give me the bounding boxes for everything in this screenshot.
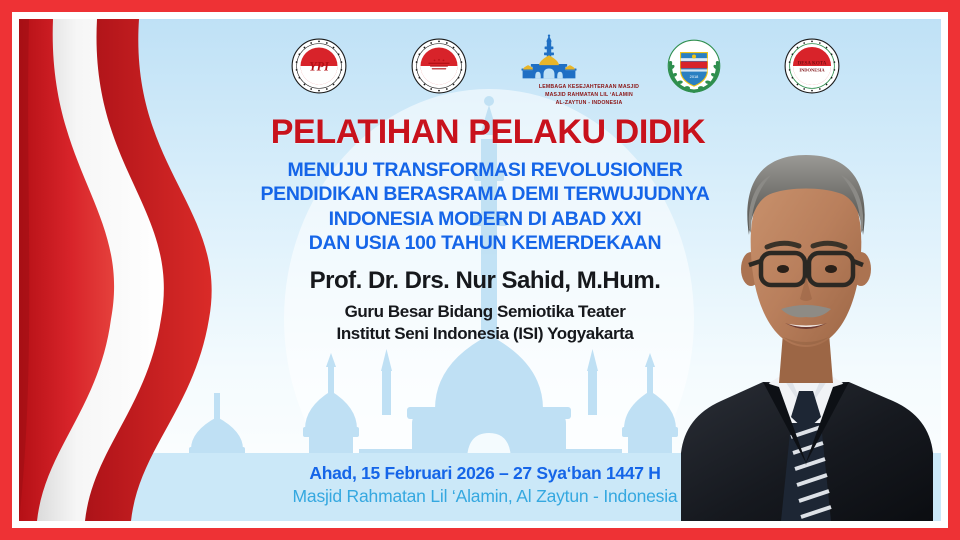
lkm-caption-line-3: AL-ZAYTUN - INDONESIA (504, 100, 674, 108)
poster-stage: YPI (19, 19, 941, 521)
svg-text:2018: 2018 (690, 74, 699, 79)
speaker-portrait (671, 101, 941, 521)
svg-text:DESA KOTA: DESA KOTA (798, 60, 827, 66)
svg-text:YPI: YPI (309, 59, 330, 73)
desa-kota-indonesia-logo: DESA KOTA INDONESIA (784, 38, 840, 94)
haurkoneng-emblem-logo: 2018 (665, 38, 723, 94)
mahad-al-tarbiyah-al-islamiyah-logo (411, 38, 467, 94)
lkm-caption-line-1: LEMBAGA KESEJAHTERAAN MASJID (504, 84, 674, 92)
poster-frame: YPI (0, 0, 960, 540)
logo-row: YPI (19, 34, 941, 108)
lembaga-kesejahteraan-masjid-logo (516, 34, 582, 82)
ypi-pesantren-indonesia-logo: YPI (291, 38, 347, 94)
lembaga-kesejahteraan-masjid-caption: LEMBAGA KESEJAHTERAAN MASJID MASJID RAHM… (504, 84, 674, 107)
svg-text:INDONESIA: INDONESIA (799, 68, 825, 73)
lkm-caption-line-2: MASJID RAHMATAN LIL ‘ALAMIN (504, 92, 674, 100)
